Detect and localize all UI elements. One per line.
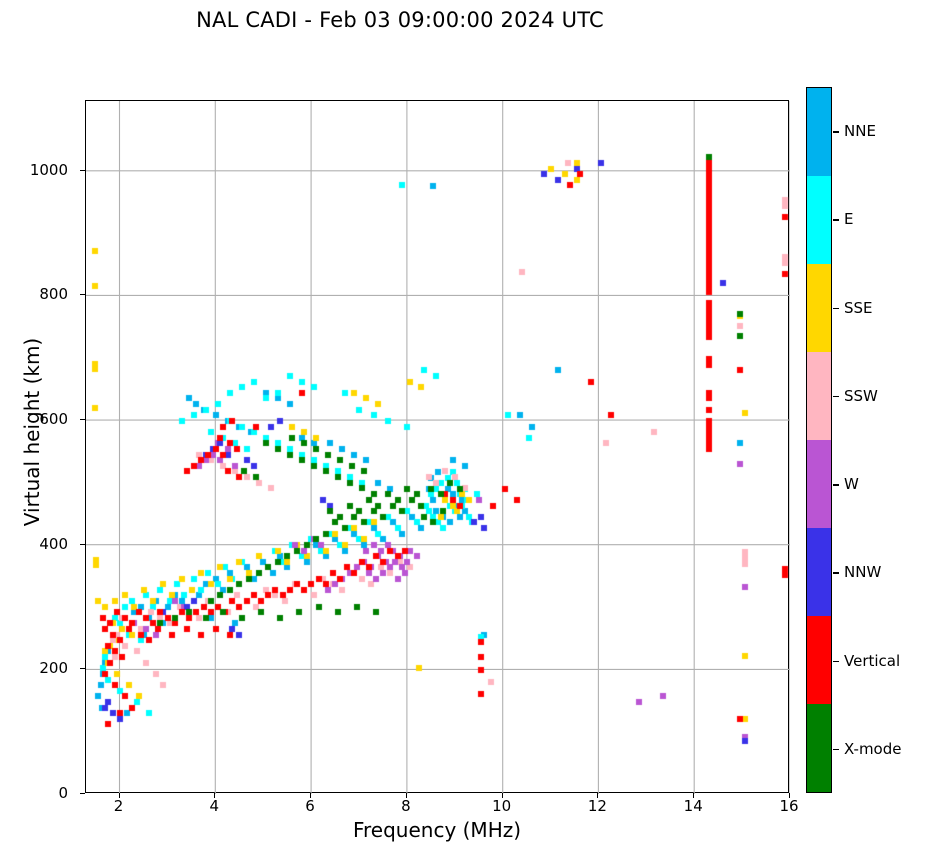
colorbar-segment-w (807, 440, 831, 528)
x-tick-mark (789, 793, 790, 798)
y-tick-mark (80, 419, 85, 420)
colorbar-label-x-mode: X-mode (844, 740, 901, 758)
x-tick-mark (310, 793, 311, 798)
plot-area (85, 100, 789, 793)
colorbar-tick-mark (833, 396, 839, 397)
colorbar-label-ssw: SSW (844, 387, 878, 405)
y-tick-label: 0 (0, 784, 68, 802)
x-tick-label: 14 (684, 797, 703, 815)
y-tick-mark (80, 544, 85, 545)
colorbar-label-vertical: Vertical (844, 652, 900, 670)
x-tick-mark (406, 793, 407, 798)
colorbar-segment-x-mode (807, 704, 831, 792)
y-tick-mark (80, 668, 85, 669)
colorbar-segment-vertical (807, 616, 831, 704)
colorbar-tick-mark (833, 219, 839, 220)
y-tick-mark (80, 294, 85, 295)
x-tick-mark (214, 793, 215, 798)
colorbar-segment-sse (807, 264, 831, 352)
colorbar-segment-e (807, 176, 831, 264)
x-tick-mark (693, 793, 694, 798)
colorbar-tick-mark (833, 572, 839, 573)
colorbar-tick-mark (833, 661, 839, 662)
x-tick-label: 12 (588, 797, 607, 815)
colorbar-label-nnw: NNW (844, 563, 881, 581)
x-tick-label: 16 (779, 797, 798, 815)
ionogram-figure: NAL CADI - Feb 03 09:00:00 2024 UTC Freq… (0, 0, 951, 856)
y-tick-mark (80, 793, 85, 794)
x-tick-label: 10 (492, 797, 511, 815)
colorbar-segment-ssw (807, 352, 831, 440)
ionogram-scatter-canvas (86, 101, 790, 794)
colorbar-label-w: W (844, 475, 859, 493)
colorbar-tick-mark (833, 131, 839, 132)
chart-title: NAL CADI - Feb 03 09:00:00 2024 UTC (0, 8, 800, 32)
x-tick-label: 4 (210, 797, 220, 815)
x-tick-label: 8 (401, 797, 411, 815)
y-tick-mark (80, 170, 85, 171)
x-tick-mark (502, 793, 503, 798)
colorbar-segment-nnw (807, 528, 831, 616)
x-tick-label: 2 (114, 797, 124, 815)
colorbar-label-sse: SSE (844, 299, 873, 317)
y-tick-label: 600 (0, 410, 68, 428)
colorbar-tick-mark (833, 308, 839, 309)
colorbar-tick-mark (833, 484, 839, 485)
colorbar-segment-nne (807, 88, 831, 176)
x-tick-mark (597, 793, 598, 798)
y-tick-label: 400 (0, 535, 68, 553)
colorbar-label-e: E (844, 210, 853, 228)
colorbar (806, 87, 832, 793)
y-tick-label: 800 (0, 285, 68, 303)
colorbar-tick-mark (833, 749, 839, 750)
x-axis-label: Frequency (MHz) (85, 818, 789, 842)
y-tick-label: 1000 (0, 161, 68, 179)
x-tick-mark (119, 793, 120, 798)
y-tick-label: 200 (0, 659, 68, 677)
colorbar-label-nne: NNE (844, 122, 876, 140)
x-tick-label: 6 (305, 797, 315, 815)
